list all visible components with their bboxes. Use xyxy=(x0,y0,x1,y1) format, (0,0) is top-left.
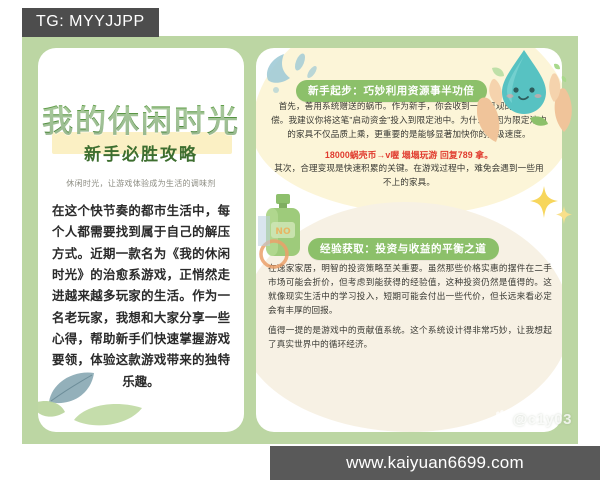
section-1-highlight: 18000蜗壳币→v喔 塌塌玩游 回复789 拿。 xyxy=(270,148,548,162)
left-body-text: 在这个快节奏的都市生活中，每个人都需要找到属于自己的解压方式。近期一款名为《我的… xyxy=(52,200,230,392)
section-2-paragraph-2: 值得一提的是游戏中的贡献值系统。这个系统设计得非常巧妙，让我想起了真实世界中的循… xyxy=(268,324,552,352)
watermark: @c1y03 xyxy=(494,410,572,428)
section-1-paragraph-2: 其次，合理变现是快速积累的关键。在游戏过程中，难免会遇到一些用不上的家具。 xyxy=(270,162,548,190)
paw-icon xyxy=(494,410,510,428)
section-2-paragraph-1: 在逸家家居，明智的投资策略至关重要。虽然那些价格实惠的摆件在二手市场可能会折价，… xyxy=(268,262,552,318)
leaf-icon xyxy=(72,400,144,432)
page-title: 我的休闲时光 xyxy=(38,96,244,141)
right-content-card: 新手起步：巧妙利用资源事半功倍 首先，善用系统赠送的蜗币。作为新手，你会收到一笔… xyxy=(256,48,562,432)
section-header-1: 新手起步：巧妙利用资源事半功倍 xyxy=(296,80,487,102)
tg-channel-tag: TG: MYYJJPP xyxy=(22,8,159,37)
page-subtitle: 新手必胜攻略 xyxy=(38,140,244,165)
footer-url-text: www.kaiyuan6699.com xyxy=(346,453,524,473)
intro-tagline: 休闲时光，让游戏体验成为生活的调味剂 xyxy=(54,178,228,189)
section-header-2: 经验获取：投资与收益的平衡之道 xyxy=(308,238,499,260)
footer-url-bar: www.kaiyuan6699.com xyxy=(270,446,600,480)
leaf-icon xyxy=(38,400,66,429)
watermark-handle: @c1y03 xyxy=(513,411,572,428)
section-1-paragraph-1: 首先，善用系统赠送的蜗币。作为新手，你会收到一笔可观的蜗币补偿。我建议你将这笔"… xyxy=(270,100,548,142)
left-content-card: 我的休闲时光 新手必胜攻略 休闲时光，让游戏体验成为生活的调味剂 在这个快节奏的… xyxy=(38,48,244,432)
poster-canvas: TG: MYYJJPP 我的休闲时光 新手必胜攻略 休闲时光，让游戏体验成为生活… xyxy=(0,0,600,480)
